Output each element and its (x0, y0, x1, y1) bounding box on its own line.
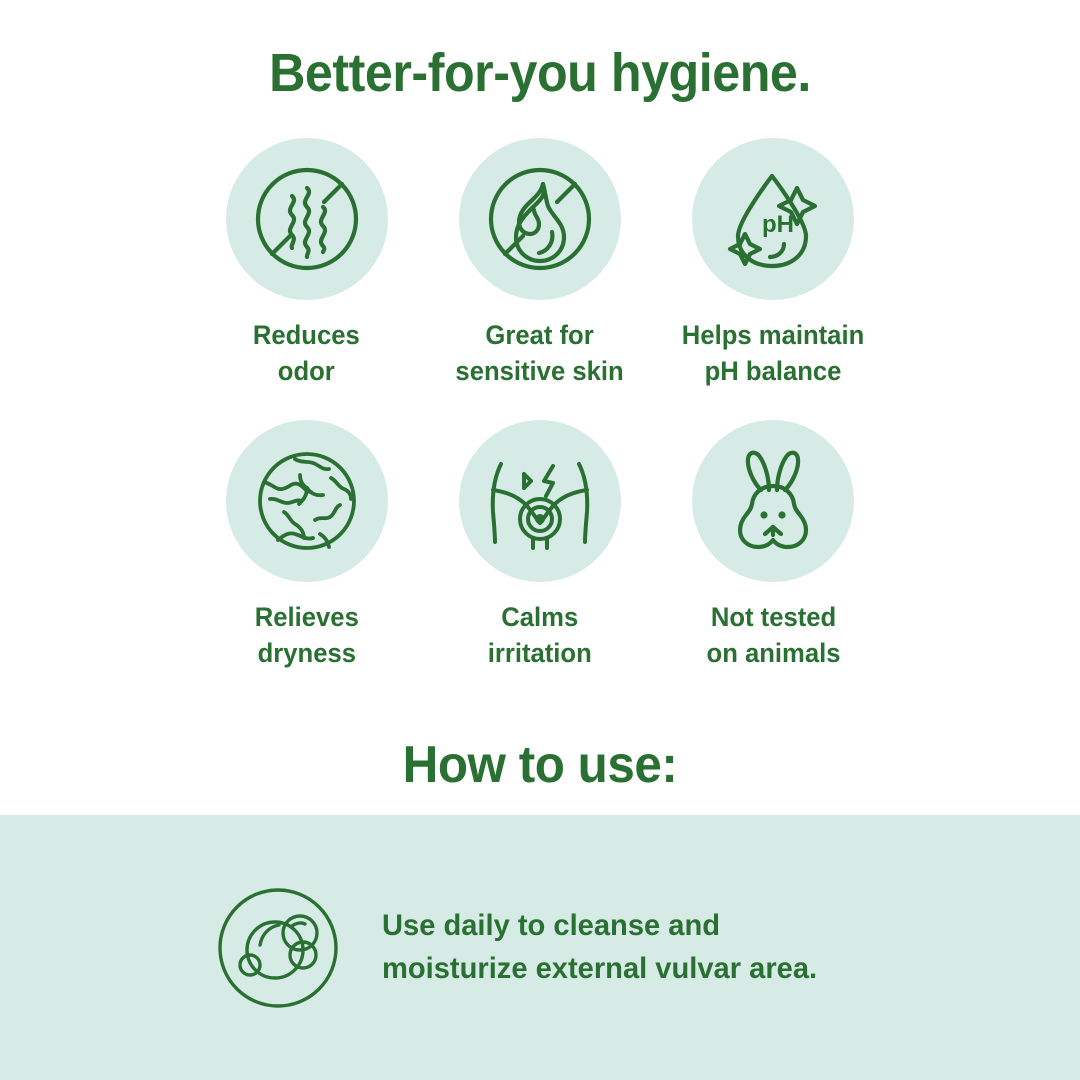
benefit-item-calms-irritation: Calms irritation (423, 420, 656, 672)
ph-label: pH (762, 211, 794, 238)
benefit-item-reduces-odor: Reduces odor (190, 138, 423, 390)
benefit-label: Relieves dryness (255, 600, 359, 672)
badge-circle: pH (692, 138, 854, 300)
usage-band: Use daily to cleanse and moisturize exte… (0, 815, 1080, 1080)
no-odor-icon (248, 160, 366, 278)
page-title: Better-for-you hygiene. (38, 45, 1042, 102)
benefit-item-ph-balance: pH Helps maintain pH balance (657, 138, 890, 390)
benefit-label: Great for sensitive skin (456, 318, 624, 390)
benefit-item-relieves-dryness: Relieves dryness (190, 420, 423, 672)
ph-droplet-icon: pH (714, 160, 832, 278)
benefit-label: Reduces odor (253, 318, 360, 390)
badge-circle (459, 138, 621, 300)
badge-circle (692, 420, 854, 582)
howto-title: How to use: (27, 735, 1053, 795)
benefit-label: Calms irritation (488, 600, 592, 672)
benefit-label: Helps maintain pH balance (682, 318, 864, 390)
bunny-icon (714, 442, 832, 560)
badge-circle (226, 138, 388, 300)
benefit-item-sensitive-skin: Great for sensitive skin (423, 138, 656, 390)
badge-circle (226, 420, 388, 582)
benefit-item-not-tested-on-animals: Not tested on animals (657, 420, 890, 672)
benefit-label: Not tested on animals (706, 600, 840, 672)
bubbles-icon (212, 882, 344, 1014)
badge-circle (459, 420, 621, 582)
usage-text: Use daily to cleanse and moisturize exte… (382, 905, 817, 990)
no-flame-icon (481, 160, 599, 278)
dry-skin-icon (248, 442, 366, 560)
benefits-grid: Reduces odor Great for sensitive skin (190, 138, 890, 672)
infographic-page: Better-for-you hygiene. Reduces odor (0, 0, 1080, 1080)
pelvis-irritation-icon (481, 442, 599, 560)
